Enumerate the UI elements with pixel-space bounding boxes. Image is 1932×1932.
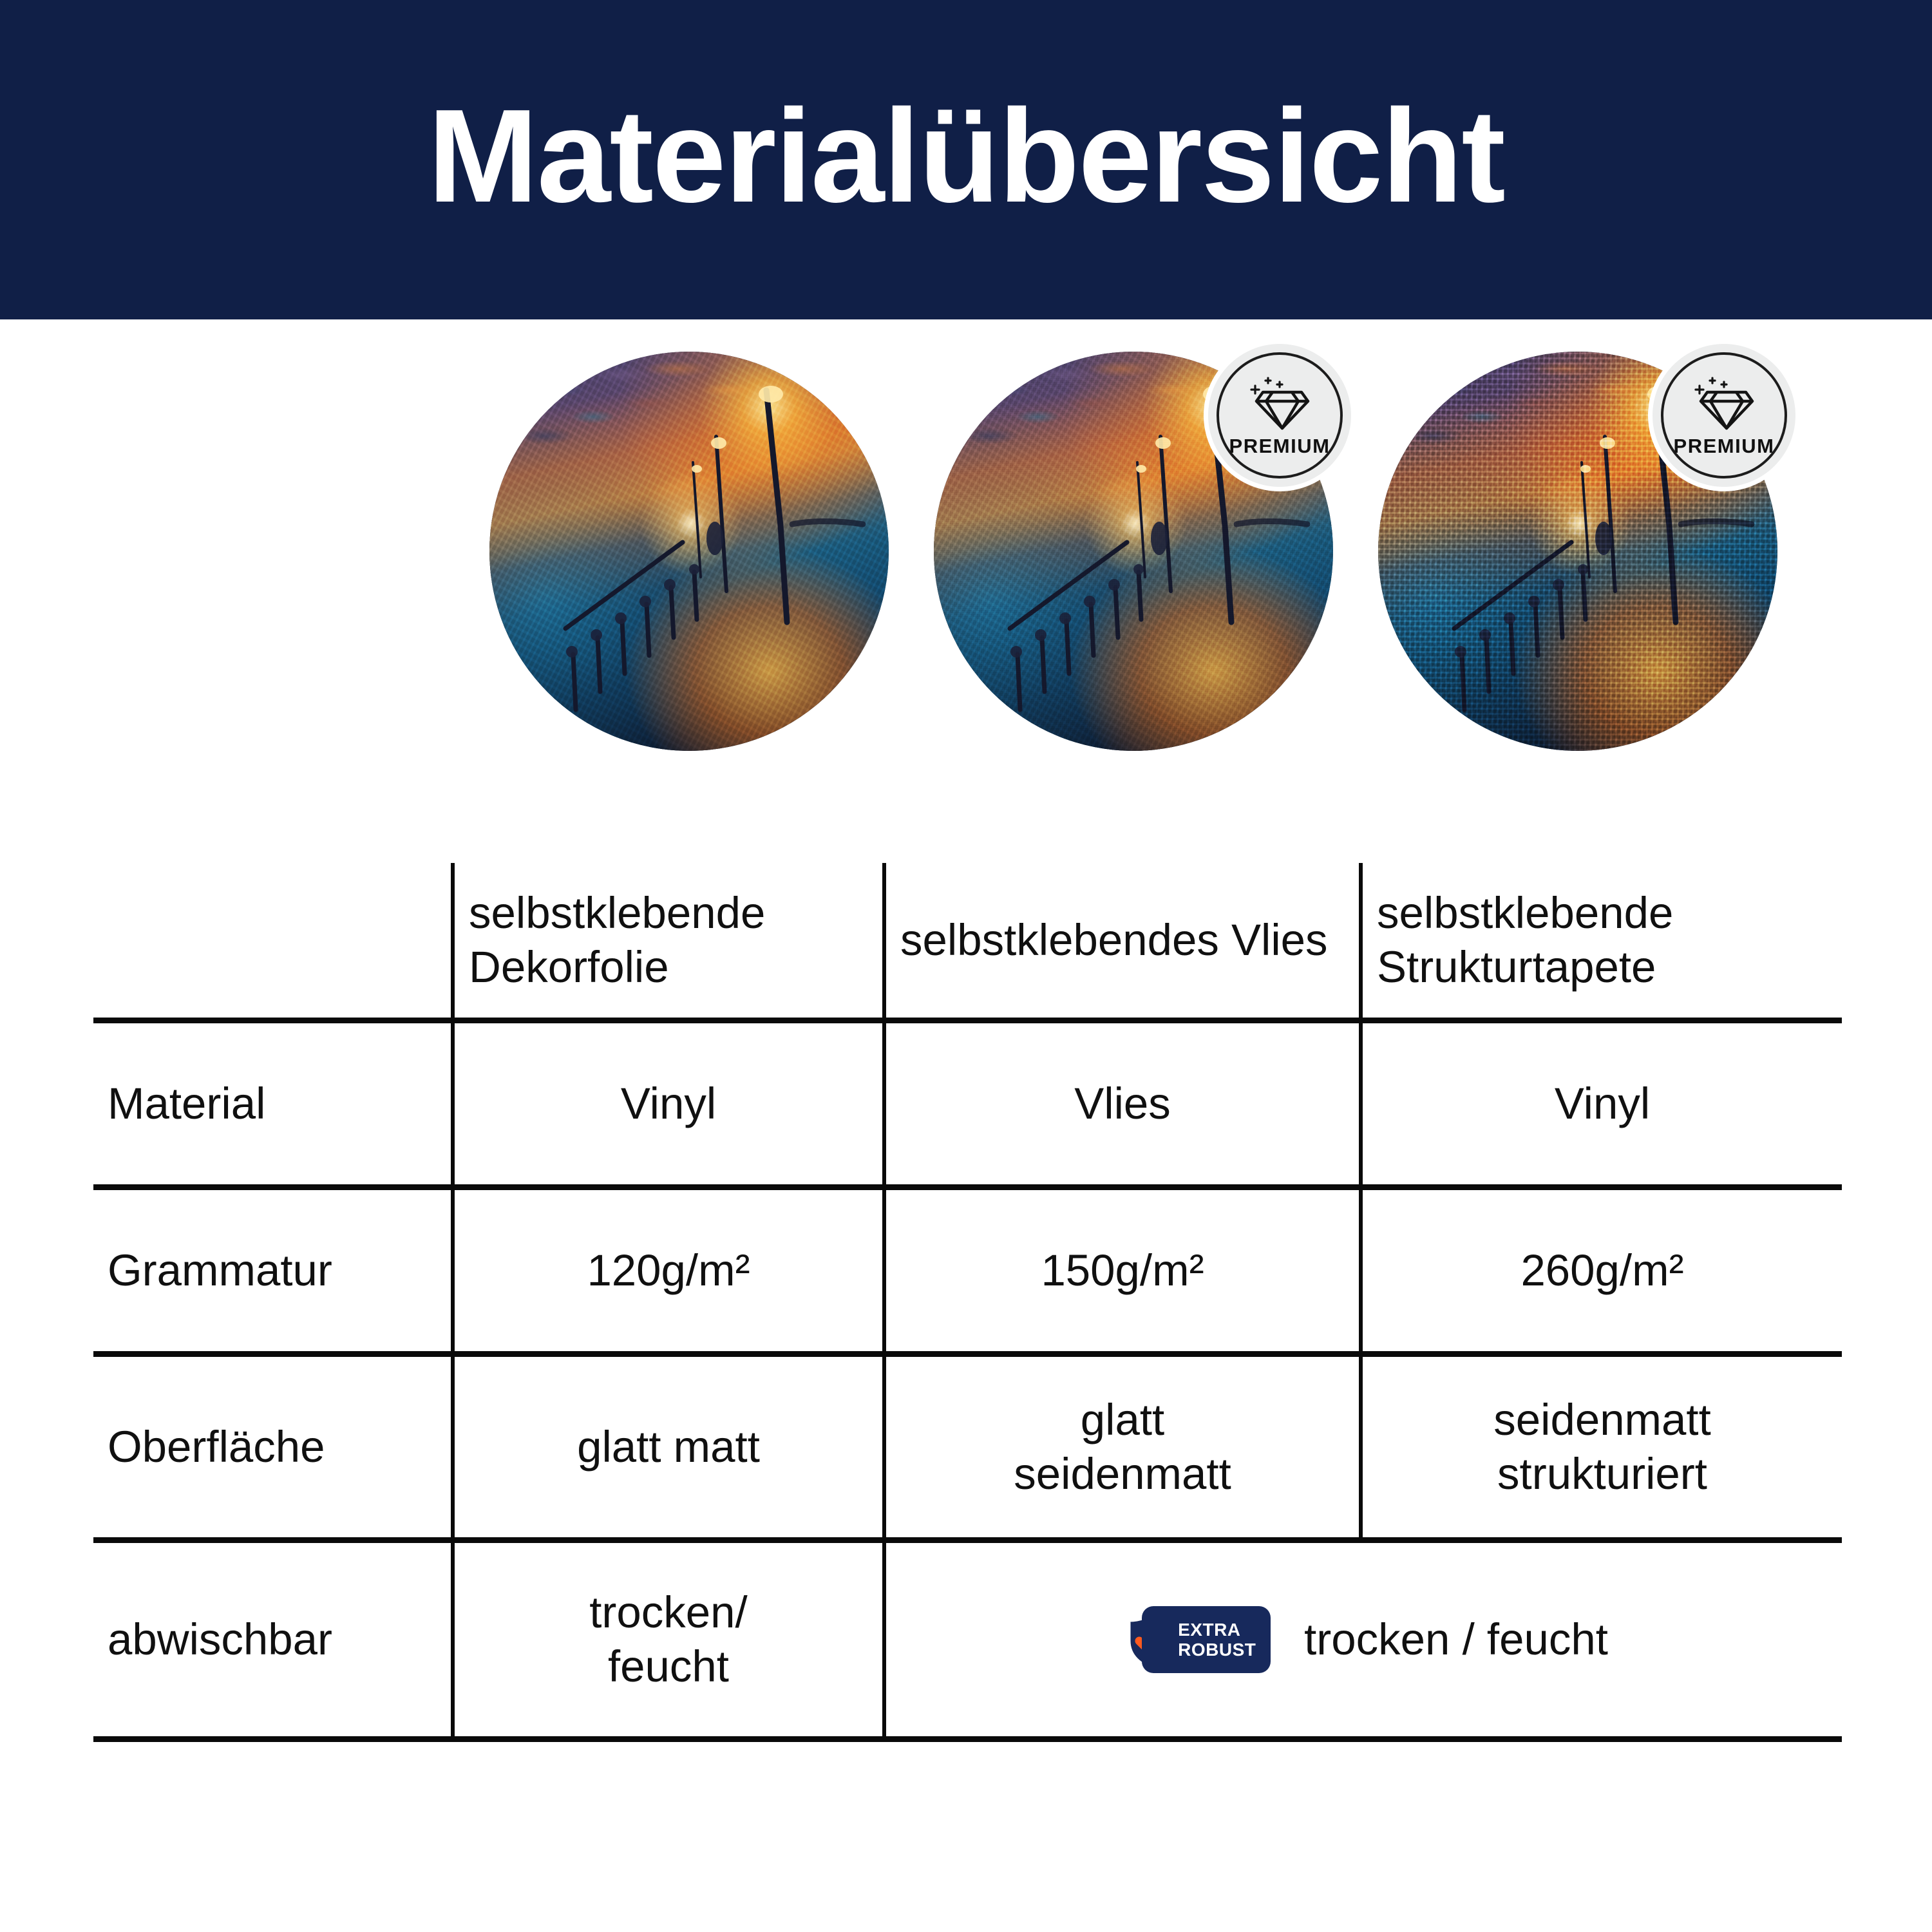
material-spec-table: selbstklebende Dekorfolie selbstklebende…: [93, 863, 1842, 1742]
cell-grammatur-dekorfolie: 120g/m²: [453, 1188, 884, 1354]
table-header-vlies: selbstklebendes Vlies: [884, 863, 1361, 1021]
cell-abwischbar-merged: EXTRA ROBUST trocken / feucht: [884, 1540, 1842, 1739]
cell-abwischbar-dekorfolie: trocken/ feucht: [453, 1540, 884, 1739]
table-header-strukturtapete: selbstklebende Strukturtapete: [1361, 863, 1842, 1021]
table-header-dekorfolie: selbstklebende Dekorfolie: [453, 863, 884, 1021]
cell-oberflaeche-dekorfolie: glatt matt: [453, 1354, 884, 1540]
cell-material-strukturtapete: Vinyl: [1361, 1021, 1842, 1188]
cell-grammatur-strukturtapete: 260g/m²: [1361, 1188, 1842, 1354]
table-row-oberflaeche: Oberfläche glatt matt glatt seidenmatt s…: [93, 1354, 1842, 1540]
row-label-grammatur: Grammatur: [93, 1188, 453, 1354]
cell-oberflaeche-strukturtapete: seidenmatt strukturiert: [1361, 1354, 1842, 1540]
diamond-icon: [1246, 375, 1313, 432]
cell-material-vlies: Vlies: [884, 1021, 1361, 1188]
cell-material-dekorfolie: Vinyl: [453, 1021, 884, 1188]
extra-robust-badge: EXTRA ROBUST: [1120, 1604, 1271, 1676]
cell-oberflaeche-vlies: glatt seidenmatt: [884, 1354, 1361, 1540]
extra-robust-line1: EXTRA: [1178, 1620, 1240, 1640]
premium-badge-label: PREMIUM: [1674, 435, 1775, 458]
diamond-icon: [1690, 375, 1757, 432]
product-image-circle: [489, 352, 889, 751]
extra-robust-line2: ROBUST: [1178, 1640, 1256, 1660]
page-title: Materialübersicht: [428, 90, 1504, 222]
premium-badge-label: PREMIUM: [1229, 435, 1331, 458]
product-preview-vlies[interactable]: PREMIUM: [934, 352, 1333, 751]
premium-badge: PREMIUM: [1653, 344, 1795, 487]
row-label-abwischbar: abwischbar: [93, 1540, 453, 1739]
product-preview-strip: PREMIUM: [0, 319, 1932, 796]
row-label-oberflaeche: Oberfläche: [93, 1354, 453, 1540]
header-bar: Materialübersicht: [0, 0, 1932, 319]
table-row-grammatur: Grammatur 120g/m² 150g/m² 260g/m²: [93, 1188, 1842, 1354]
table-header-row: selbstklebende Dekorfolie selbstklebende…: [93, 863, 1842, 1021]
premium-badge: PREMIUM: [1208, 344, 1351, 487]
cell-grammatur-vlies: 150g/m²: [884, 1188, 1361, 1354]
table-corner-cell: [93, 863, 453, 1021]
table-row-abwischbar: abwischbar trocken/ feucht EXTRA ROBUST: [93, 1540, 1842, 1739]
product-preview-strukturtapete[interactable]: PREMIUM: [1378, 352, 1777, 751]
product-preview-dekorfolie[interactable]: [489, 352, 889, 751]
table-row-material: Material Vinyl Vlies Vinyl: [93, 1021, 1842, 1188]
artwork-details-icon: [489, 352, 889, 751]
cell-abwischbar-merged-text: trocken / feucht: [1304, 1613, 1608, 1667]
row-label-material: Material: [93, 1021, 453, 1188]
